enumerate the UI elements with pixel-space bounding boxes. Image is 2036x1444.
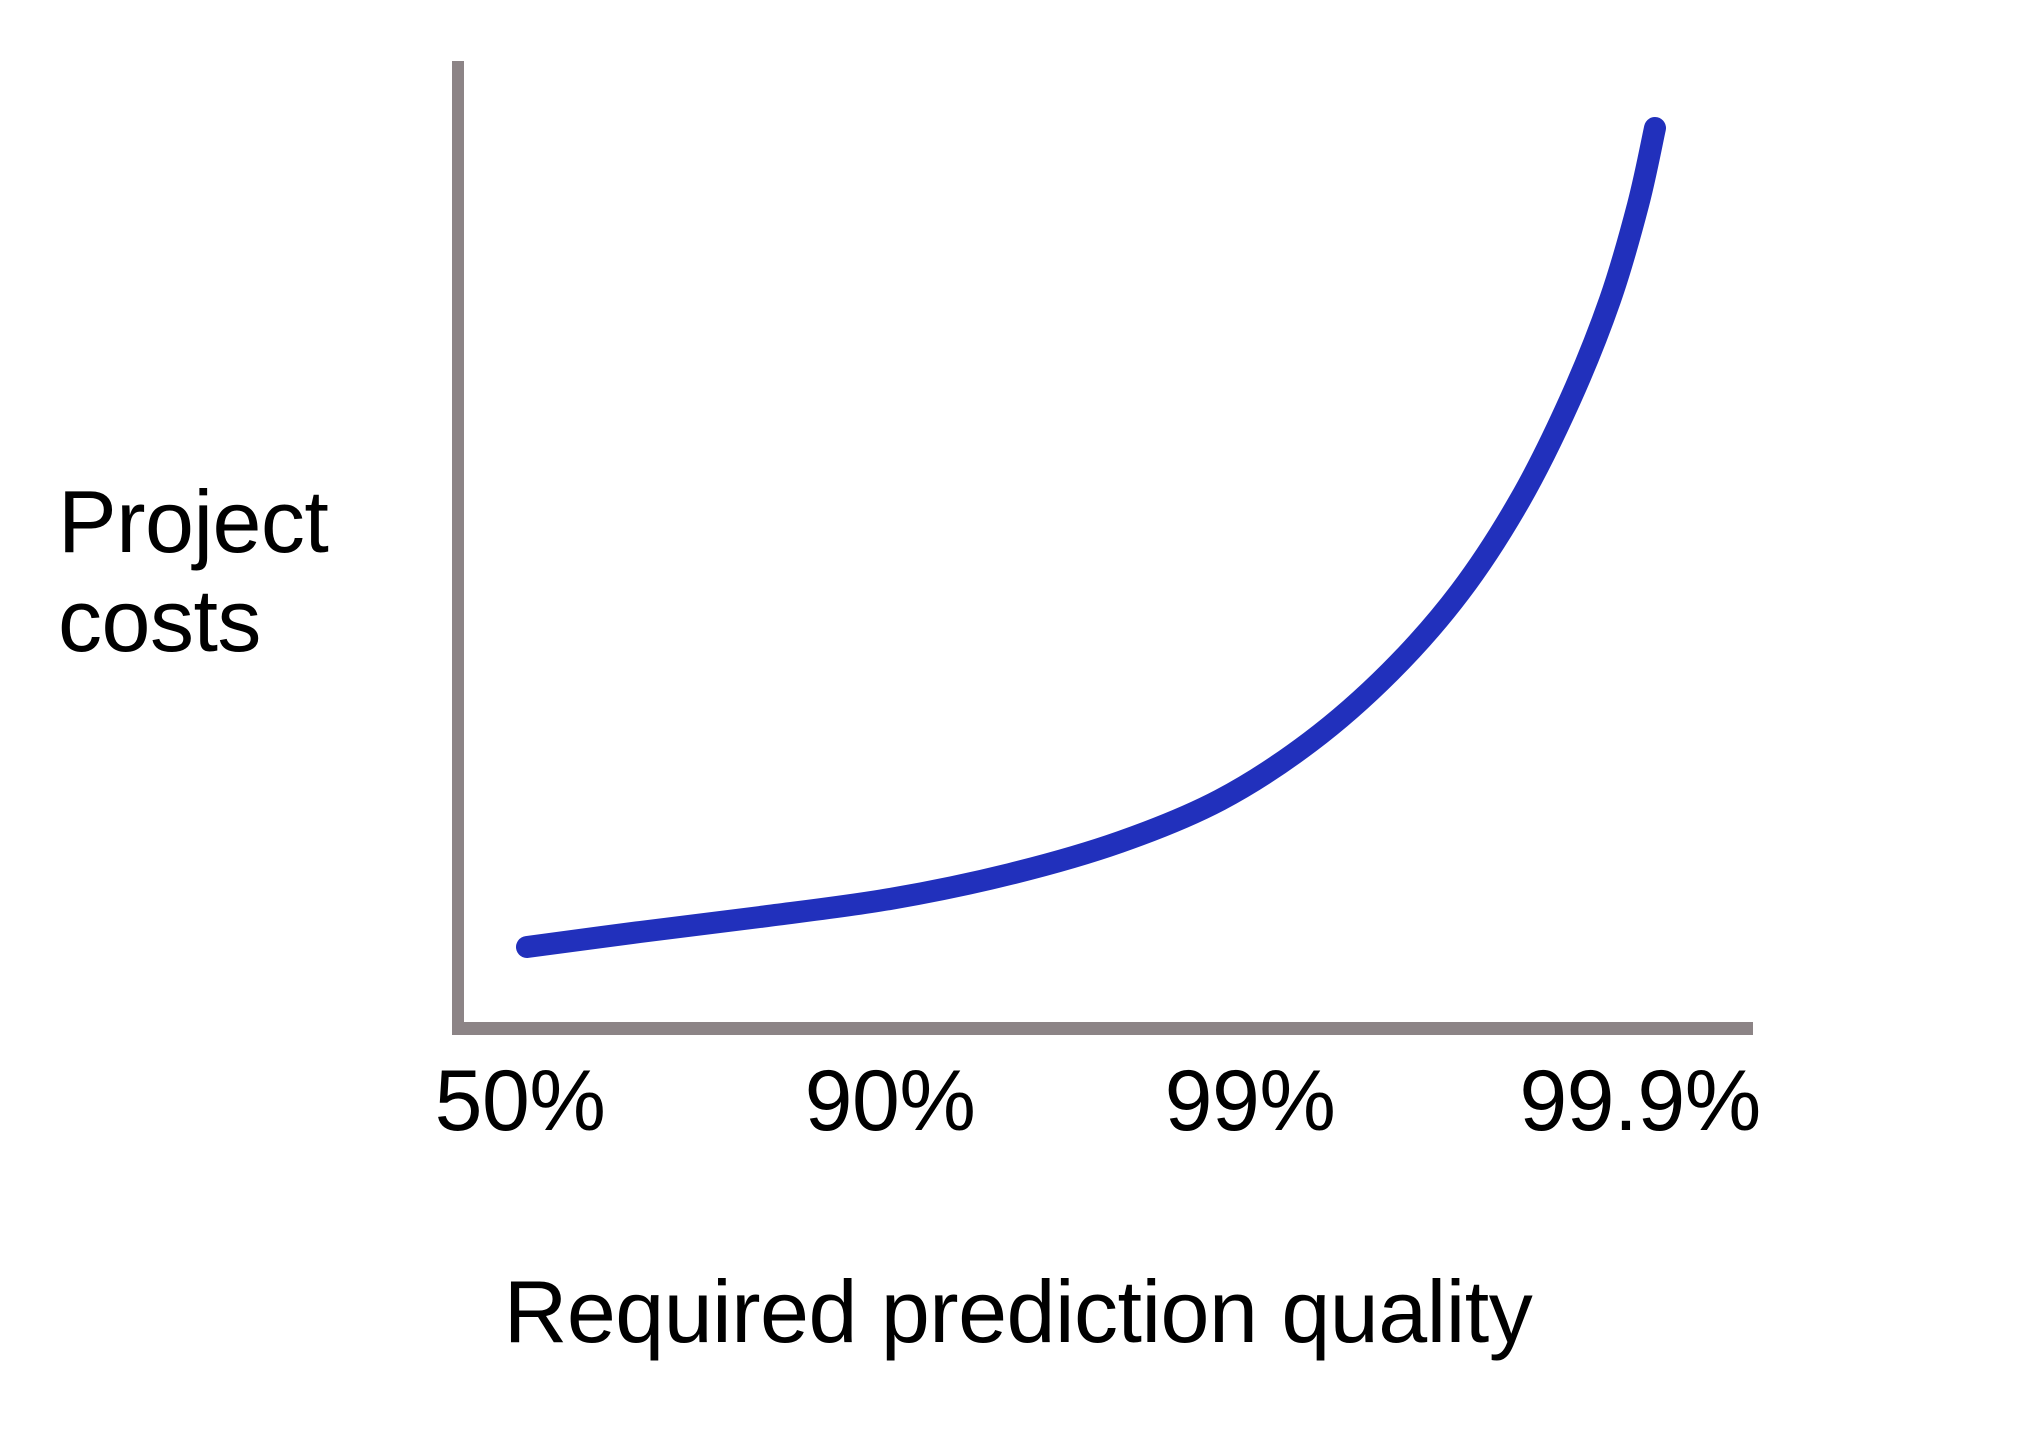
x-tick-label-2: 99%: [1165, 1058, 1336, 1144]
x-axis-line: [452, 1022, 1753, 1035]
x-tick-label-3: 99.9%: [1519, 1058, 1760, 1144]
x-tick-label-group: 50% 90% 99% 99.9%: [0, 1058, 2036, 1168]
x-axis-title: Required prediction quality: [0, 1268, 2036, 1356]
chart-figure: Project costs 50% 90% 99% 99.9% Required…: [0, 0, 2036, 1444]
cost-curve-line: [527, 128, 1655, 947]
x-tick-label-1: 90%: [805, 1058, 976, 1144]
x-tick-label-0: 50%: [435, 1058, 606, 1144]
y-axis-line: [452, 61, 464, 1035]
plot-area: [0, 0, 2036, 1444]
